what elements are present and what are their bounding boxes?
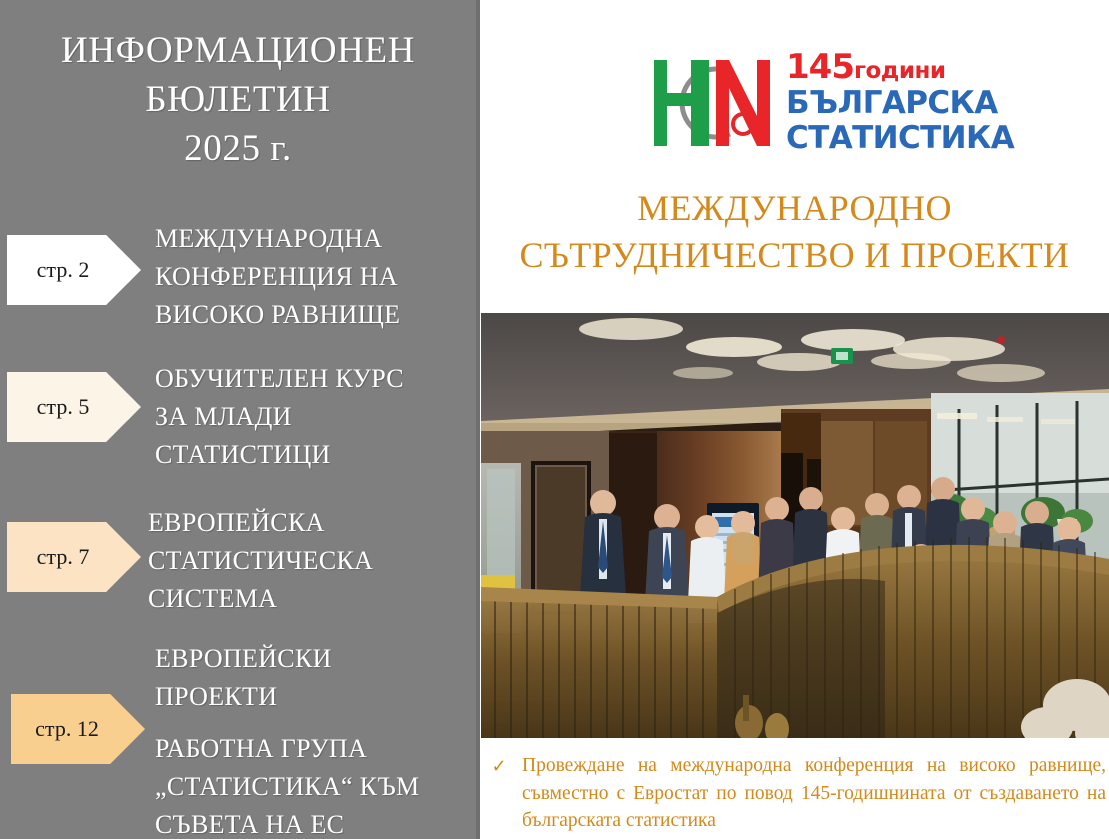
section-heading: МЕЖДУНАРОДНО СЪТРУДНИЧЕСТВО И ПРОЕКТИ — [484, 185, 1105, 279]
logo-anniversary-line: 145години — [786, 50, 948, 84]
toc-item-4-line-2: „СТАТИСТИКА“ КЪМ — [155, 768, 485, 806]
section-heading-line-2: СЪТРУДНИЧЕСТВО И ПРОЕКТИ — [484, 232, 1105, 279]
toc-item-4-upper-line-2: ПРОЕКТИ — [155, 678, 485, 716]
toc-item-4-line-3: СЪВЕТА НА ЕС — [155, 806, 485, 839]
page-badge-label-4: стр. 12 — [35, 716, 99, 742]
page-badge-label-3: стр. 7 — [37, 544, 90, 570]
newsletter-title-line-1: ИНФОРМАЦИОНЕН — [8, 26, 468, 75]
logo-anniversary-word: години — [854, 58, 946, 84]
photo-caption: ✓ Провеждане на международна конференция… — [486, 752, 1106, 835]
toc-item-2-text: ОБУЧИТЕЛЕН КУРС ЗА МЛАДИ СТАТИСТИЦИ — [155, 360, 485, 474]
toc-item-1-line-2: КОНФЕРЕНЦИЯ НА — [155, 258, 485, 296]
toc-item-1-line-3: ВИСОКО РАВНИЩЕ — [155, 296, 485, 334]
newsletter-title-line-2: БЮЛЕТИН — [8, 75, 468, 124]
section-heading-line-1: МЕЖДУНАРОДНО — [484, 185, 1105, 232]
toc-item-4-text: РАБОТНА ГРУПА „СТАТИСТИКА“ КЪМ СЪВЕТА НА… — [155, 730, 485, 839]
page-badge-label-2: стр. 5 — [37, 394, 90, 420]
toc-item-3-line-3: СИСТЕМА — [148, 580, 478, 618]
page-badge-label-1: стр. 2 — [37, 257, 90, 283]
toc-item-3-text: ЕВРОПЕЙСКА СТАТИСТИЧЕСКА СИСТЕМА — [148, 504, 478, 618]
newsletter-title: ИНФОРМАЦИОНЕН БЮЛЕТИН 2025 г. — [8, 26, 468, 174]
toc-item-1-line-1: МЕЖДУНАРОДНА — [155, 220, 485, 258]
toc-item-3-line-1: ЕВРОПЕЙСКА — [148, 504, 478, 542]
toc-item-1-text: МЕЖДУНАРОДНА КОНФЕРЕНЦИЯ НА ВИСОКО РАВНИ… — [155, 220, 485, 334]
nsi-logo: 145години БЪЛГАРСКА СТАТИСТИКА — [648, 42, 948, 166]
toc-item-4-upper-line-1: ЕВРОПЕЙСКИ — [155, 640, 485, 678]
logo-org-line-2: СТАТИСТИКА — [786, 123, 948, 154]
nsi-logo-wordmark: 145години БЪЛГАРСКА СТАТИСТИКА — [786, 50, 948, 154]
checkmark-icon: ✓ — [486, 752, 512, 835]
logo-anniversary-number: 145 — [786, 47, 854, 87]
toc-item-4-line-1: РАБОТНА ГРУПА — [155, 730, 485, 768]
nsi-logo-mark-icon — [648, 48, 780, 158]
toc-item-2-line-1: ОБУЧИТЕЛЕН КУРС — [155, 360, 485, 398]
newsletter-title-line-3: 2025 г. — [8, 124, 468, 173]
toc-item-3-line-2: СТАТИСТИЧЕСКА — [148, 542, 478, 580]
toc-item-2-line-3: СТАТИСТИЦИ — [155, 436, 485, 474]
right-content-panel: 145години БЪЛГАРСКА СТАТИСТИКА МЕЖДУНАРО… — [480, 0, 1109, 839]
newsletter-cover-slide: ИНФОРМАЦИОНЕН БЮЛЕТИН 2025 г. стр. 2 МЕЖ… — [0, 0, 1109, 839]
logo-org-line-1: БЪЛГАРСКА — [786, 88, 948, 119]
conference-group-photo — [481, 313, 1109, 738]
photo-caption-text: Провеждане на международна конференция н… — [522, 752, 1106, 835]
toc-item-2-line-2: ЗА МЛАДИ — [155, 398, 485, 436]
toc-item-4-text-upper: ЕВРОПЕЙСКИ ПРОЕКТИ — [155, 640, 485, 716]
